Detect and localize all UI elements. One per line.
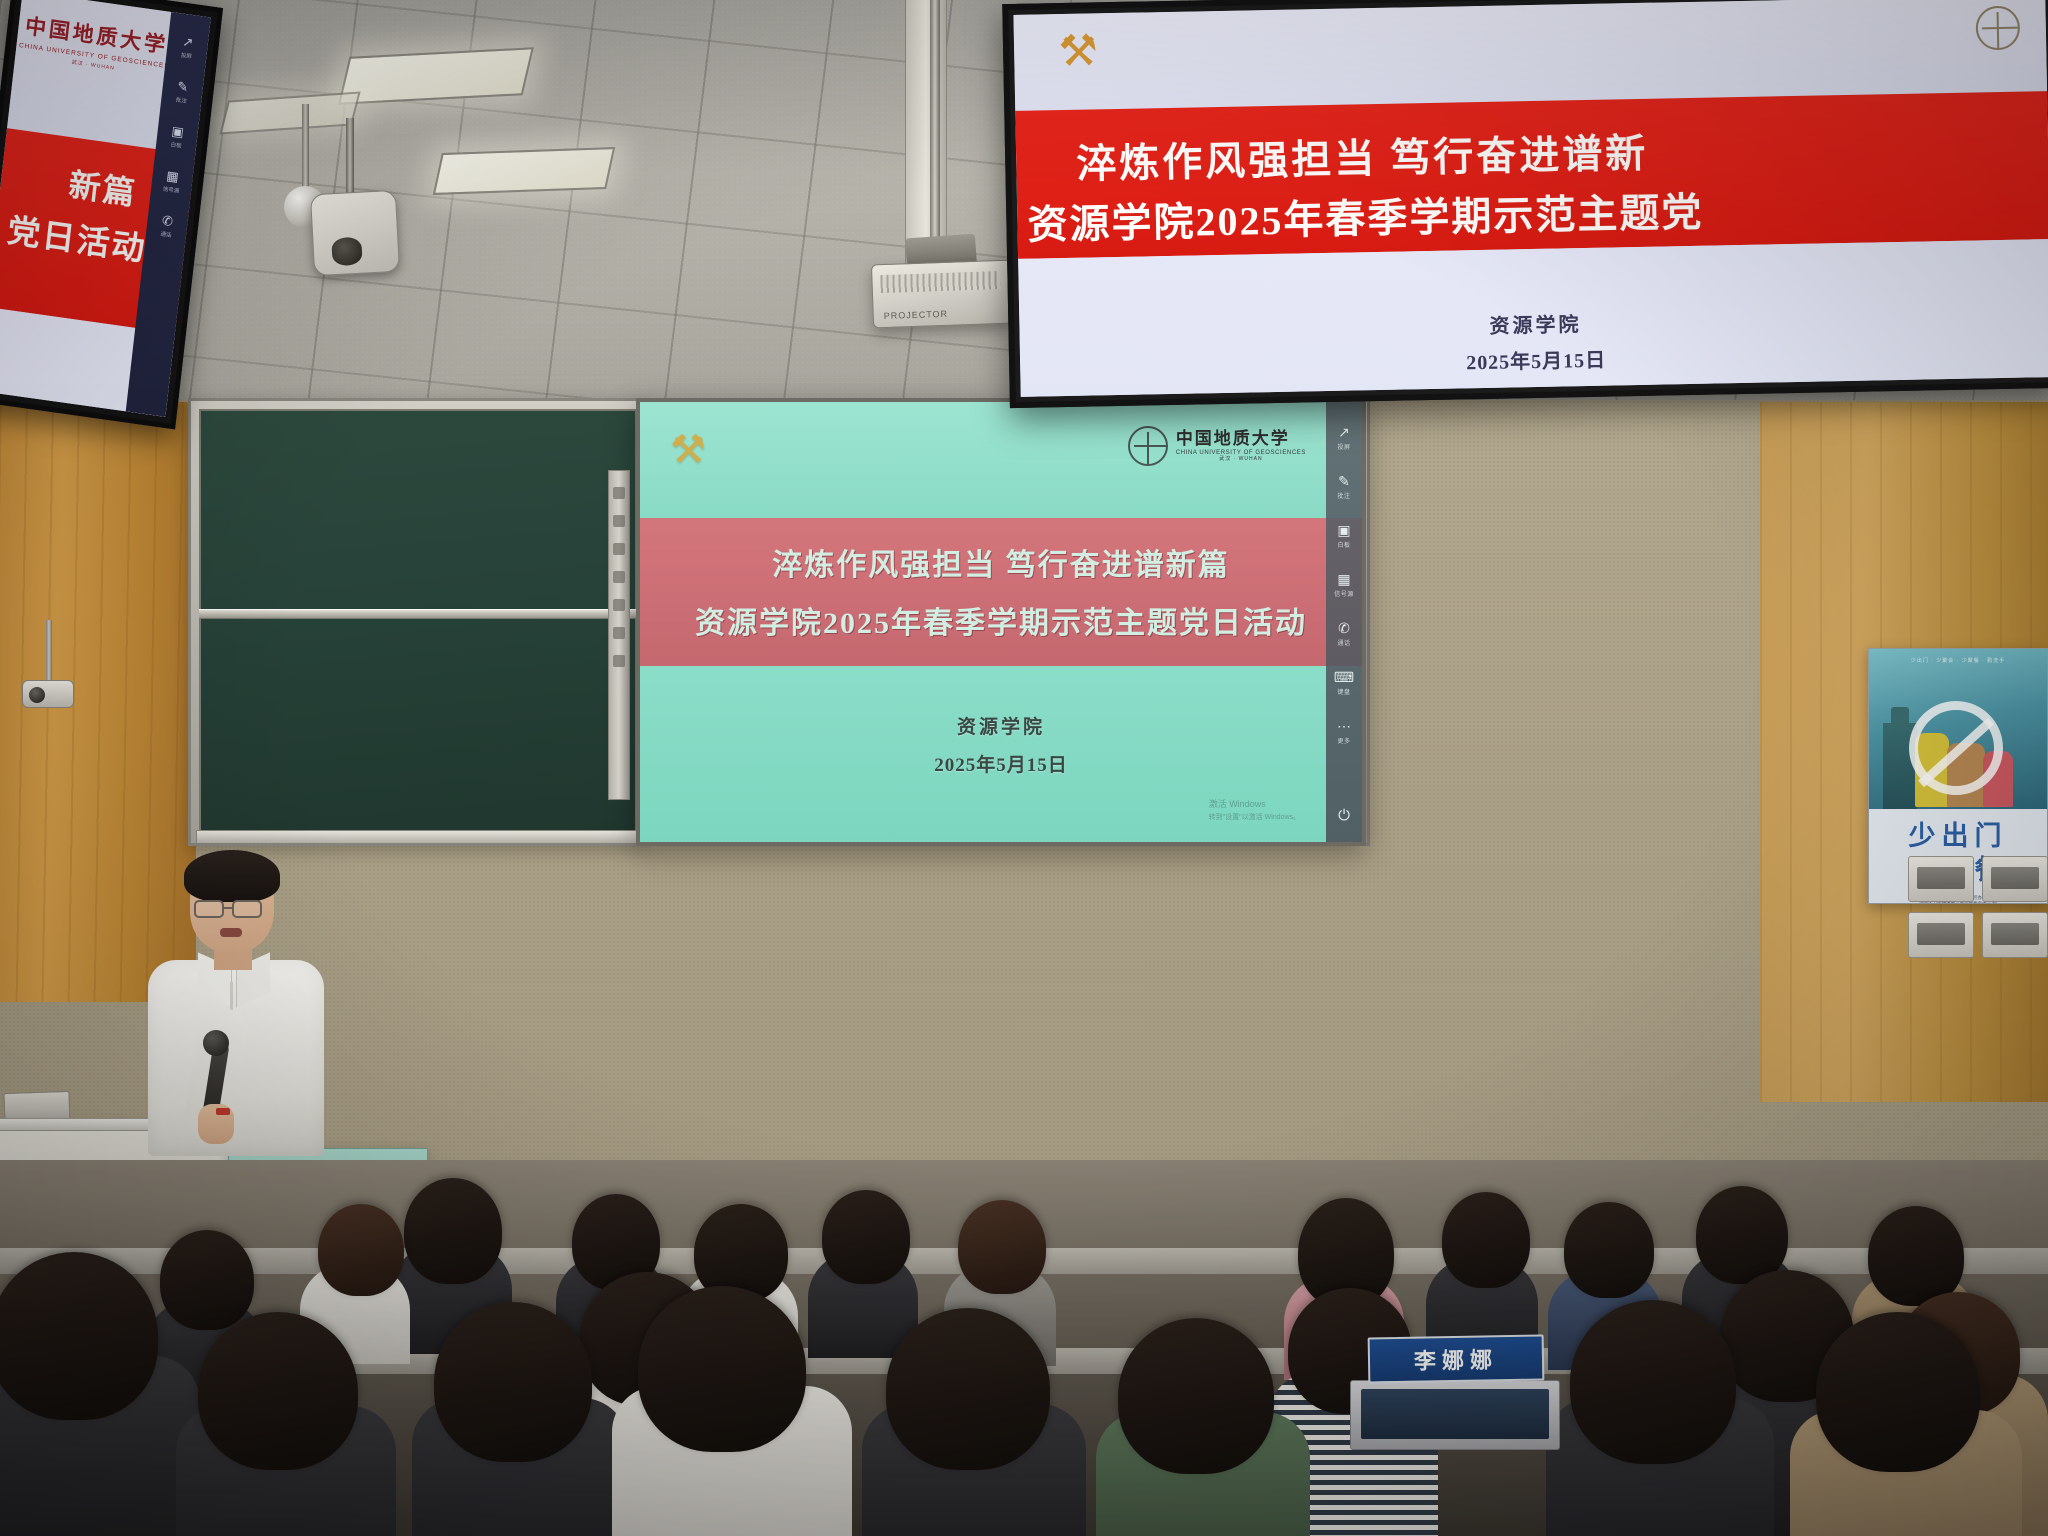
microphone-head: [203, 1030, 229, 1056]
share-icon: ↗: [1326, 424, 1362, 440]
camera-lens-icon: [29, 687, 45, 703]
audience-head: [1816, 1312, 1980, 1472]
audience-head: [1118, 1318, 1274, 1474]
name-card-text: 李娜娜: [1414, 1342, 1499, 1375]
audience-head: [318, 1204, 404, 1296]
rail-icon: [613, 655, 625, 667]
ceiling-projector: PROJECTOR: [871, 260, 1013, 329]
slide-title-line2: 资源学院2025年春季学期示范主题党日活动: [640, 598, 1362, 642]
eyeglasses-icon: [232, 900, 262, 918]
signal-source-icon: ▦: [1326, 571, 1362, 587]
toolbar-item-whiteboard[interactable]: ▣ 白板: [1326, 522, 1362, 549]
toolbar-item-share[interactable]: ↗ 投屏: [166, 32, 208, 62]
screen-side-toolbar[interactable]: ↗ 投屏 ✎ 批注 ▣ 白板 ▦ 信号源 ✆ 通话: [1326, 402, 1362, 842]
poster-headline-small: 少出门 · 少聚会 · 少聚餐 · 勤洗手: [1869, 657, 2047, 664]
power-icon[interactable]: ⏻: [1326, 807, 1362, 824]
lecture-hall-photo: PROJECTOR ⚒: [0, 0, 2048, 1536]
toolbar-label: 信号源: [1326, 589, 1362, 598]
presenter-hair: [184, 850, 280, 902]
rail-icon: [613, 515, 625, 527]
security-camera: [22, 680, 74, 708]
cug-seal-icon: [1975, 6, 2020, 51]
whiteboard-icon: ▣: [1326, 522, 1362, 538]
toolbar-item-signal-source[interactable]: ▦ 信号源: [151, 166, 193, 196]
toolbar-item-annotate[interactable]: ✎ 批注: [161, 77, 203, 107]
audience-head: [1696, 1186, 1788, 1284]
windows-activation-watermark: 激活 Windows 转到"设置"以激活 Windows。: [1209, 797, 1300, 822]
audience-head: [1564, 1202, 1654, 1298]
toolbar-item-annotate[interactable]: ✎ 批注: [1326, 473, 1362, 500]
prohibition-icon: [1909, 701, 2003, 795]
toolbar-label: 投屏: [1326, 442, 1362, 451]
projector-mount-rod: [346, 118, 354, 194]
board-control-rail: [608, 470, 630, 800]
pen-icon: ✎: [1326, 473, 1362, 489]
audience-head: [160, 1230, 254, 1330]
chalkboard-left: [188, 398, 648, 846]
ceiling-projector: [310, 190, 400, 276]
projector-label: PROJECTOR: [884, 309, 949, 321]
poster-artwork: 少出门 · 少聚会 · 少聚餐 · 勤洗手: [1869, 649, 2047, 809]
audience-head: [434, 1302, 592, 1462]
right-display-tv[interactable]: ⚒ 淬炼作风强担当 笃行奋进谱新 资源学院2025年春季学期示范主题党 资源学院…: [1002, 0, 2048, 408]
ceiling-light-panel: [433, 147, 615, 195]
watermark-line2: 转到"设置"以激活 Windows。: [1209, 812, 1300, 822]
camera-mount-rod: [46, 620, 52, 686]
rail-icon: [613, 487, 625, 499]
wall-socket[interactable]: [1982, 856, 2048, 902]
poster-line1: 少出门: [1869, 819, 2047, 853]
slide-title-line1: 淬炼作风强担当 笃行奋进谱新篇: [640, 540, 1362, 584]
presenter-mouth: [220, 928, 242, 937]
audience-laptop[interactable]: [1350, 1380, 1560, 1450]
toolbar-item-keyboard[interactable]: ⌨ 键盘: [1326, 669, 1362, 696]
slide-organization: 资源学院: [640, 712, 1362, 739]
presenter: [142, 856, 342, 1156]
rail-icon: [613, 543, 625, 555]
speaker-mount-rod: [302, 104, 309, 190]
audience-head: [958, 1200, 1046, 1294]
toolbar-item-share[interactable]: ↗ 投屏: [1326, 424, 1362, 451]
audience-head: [0, 1252, 158, 1420]
chalk-tray: [196, 830, 640, 844]
left-tv-screen: 中国地质大学 CHINA UNIVERSITY OF GEOSCIENCES 武…: [0, 0, 211, 417]
keyboard-icon: ⌨: [1326, 669, 1362, 685]
audience-head: [1868, 1206, 1964, 1306]
wall-socket[interactable]: [1982, 912, 2048, 958]
eyeglasses-icon: [194, 900, 224, 918]
rail-icon: [613, 599, 625, 611]
audience-head: [638, 1286, 806, 1452]
university-campus: 武汉 · WUHAN: [1176, 457, 1306, 462]
university-name-en: CHINA UNIVERSITY OF GEOSCIENCES: [1176, 450, 1306, 456]
toolbar-item-call[interactable]: ✆ 通话: [1326, 620, 1362, 647]
audience-head: [404, 1178, 502, 1284]
rail-icon: [613, 627, 625, 639]
university-name-cn: 中国地质大学: [1176, 430, 1306, 448]
chalkboard-rail: [199, 609, 637, 619]
audience-area: GORGEOUS: [0, 1160, 2048, 1536]
audience-head: [886, 1308, 1050, 1470]
toolbar-label: 通话: [1326, 638, 1362, 647]
slide-canvas: ⚒ 中国地质大学 CHINA UNIVERSITY OF GEOSCIENCES…: [640, 402, 1362, 842]
toolbar-item-signal-source[interactable]: ▦ 信号源: [1326, 571, 1362, 598]
university-logo: 中国地质大学 CHINA UNIVERSITY OF GEOSCIENCES 武…: [1128, 426, 1306, 466]
toolbar-label: 键盘: [1326, 687, 1362, 696]
wall-socket[interactable]: [1908, 912, 1974, 958]
wall-socket[interactable]: [1908, 856, 1974, 902]
audience-head: [1442, 1192, 1530, 1288]
name-card: 李娜娜: [1368, 1334, 1545, 1383]
projector-lens-icon: [331, 237, 362, 267]
projector-vent: [880, 271, 1001, 293]
toolbar-item-more[interactable]: ⋯ 更多: [1326, 718, 1362, 745]
chalkboard-surface: [199, 409, 637, 835]
party-emblem-icon: ⚒: [666, 428, 710, 472]
party-emblem-icon: ⚒: [1054, 27, 1103, 76]
projector-mount-rod: [930, 0, 940, 246]
projection-screen[interactable]: ⚒ 中国地质大学 CHINA UNIVERSITY OF GEOSCIENCES…: [636, 398, 1366, 846]
more-icon: ⋯: [1326, 718, 1362, 734]
toolbar-label: 批注: [1326, 491, 1362, 500]
toolbar-label: 更多: [1326, 736, 1362, 745]
rail-icon: [613, 571, 625, 583]
audience-head: [198, 1312, 358, 1470]
toolbar-label: 白板: [1326, 540, 1362, 549]
microphone-indicator: [216, 1108, 230, 1115]
right-tv-screen: ⚒ 淬炼作风强担当 笃行奋进谱新 资源学院2025年春季学期示范主题党 资源学院…: [1013, 0, 2048, 397]
cug-seal-icon: [1128, 426, 1168, 466]
eyeglasses-bridge: [224, 907, 232, 909]
toolbar-item-call[interactable]: ✆ 通话: [146, 211, 188, 241]
toolbar-item-whiteboard[interactable]: ▣ 白板: [156, 121, 198, 151]
audience-head: [1570, 1300, 1736, 1464]
phone-icon: ✆: [1326, 620, 1362, 636]
watermark-line1: 激活 Windows: [1209, 797, 1300, 810]
slide-date: 2025年5月15日: [640, 750, 1362, 777]
audience-head: [822, 1190, 910, 1284]
ceiling-light-panel: [338, 47, 534, 104]
